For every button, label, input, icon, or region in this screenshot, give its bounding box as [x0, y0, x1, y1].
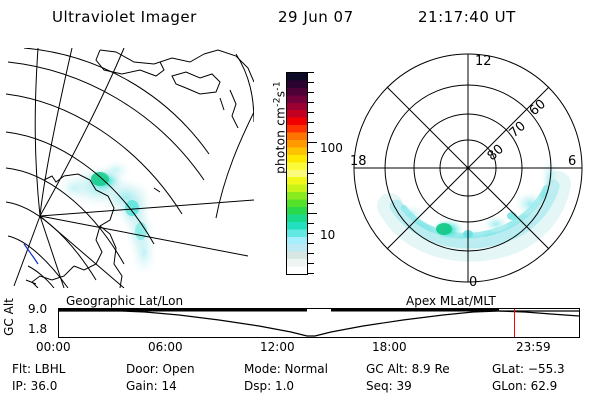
- mlt-label-lat-80: 80: [485, 142, 507, 164]
- colorbar-unit-exp2: -1: [273, 81, 283, 91]
- status-glat: GLat: −55.3: [492, 362, 565, 376]
- colorbar-tick: [308, 253, 314, 254]
- observation-time: 21:17:40 UT: [418, 8, 516, 26]
- colorbar-tick: [308, 243, 314, 244]
- colorbar-tick-label-10: 10: [320, 229, 335, 241]
- colorbar-tick: [308, 183, 314, 184]
- colorbar-tick: [308, 82, 314, 83]
- orbit-y-axis-label: GC Alt: [2, 295, 16, 339]
- status-dsp: Dsp: 1.0: [244, 379, 294, 393]
- orbit-plot-box[interactable]: [58, 308, 580, 338]
- orbit-y-tick-low: 1.8: [28, 322, 47, 336]
- colorbar-tick: [308, 112, 314, 113]
- colorbar-tick: [308, 203, 314, 204]
- colorbar-tick: [308, 233, 314, 234]
- mlt-label-lat-70: 70: [507, 119, 529, 141]
- status-mode: Mode: Normal: [244, 362, 328, 376]
- colorbar-tick: [308, 162, 314, 163]
- colorbar-panel: photon cm-2s-1 100 10: [258, 60, 344, 290]
- mlt-plot-svg: 12 6 0 18 60 70 80: [344, 48, 596, 293]
- status-gain: Gain: 14: [126, 379, 177, 393]
- observation-date: 29 Jun 07: [278, 8, 354, 26]
- mlt-label-lat-60: 60: [527, 97, 549, 119]
- status-filter: Flt: LBHL: [12, 362, 65, 376]
- orbit-x-tick-1: 06:00: [148, 340, 183, 354]
- colorbar-tick: [308, 142, 317, 143]
- status-glon: GLon: 62.9: [492, 379, 557, 393]
- colorbar-tick-label-100: 100: [320, 142, 343, 154]
- orbit-altitude-curve: [59, 309, 579, 337]
- current-time-marker: [514, 309, 515, 337]
- status-seq: Seq: 39: [366, 379, 412, 393]
- header-bar: Ultraviolet Imager 29 Jun 07 21:17:40 UT: [0, 8, 600, 32]
- status-ip: IP: 36.0: [12, 379, 57, 393]
- orbit-x-tick-0: 00:00: [36, 340, 71, 354]
- colorbar-tick: [308, 72, 314, 73]
- aurora-emission-geographic: [56, 160, 157, 277]
- colorbar-gradient[interactable]: [286, 72, 308, 275]
- orbit-altitude-strip[interactable]: Geographic Lat/Lon Apex MLat/MLT GC Alt …: [0, 296, 600, 354]
- colorbar-tick: [308, 102, 314, 103]
- geographic-image-panel[interactable]: [4, 48, 254, 288]
- colorbar-tick: [308, 92, 314, 93]
- orbit-y-tick-high: 9.0: [28, 302, 47, 316]
- colorbar-tick: [308, 132, 314, 133]
- status-gc-alt: GC Alt: 8.9 Re: [366, 362, 450, 376]
- mlt-label-12: 12: [475, 54, 492, 69]
- mlt-label-18: 18: [350, 154, 367, 169]
- orbit-x-tick-3: 18:00: [372, 340, 407, 354]
- status-door: Door: Open: [126, 362, 195, 376]
- colorbar-tick: [308, 122, 314, 123]
- colorbar-tick: [308, 223, 314, 224]
- orbit-x-tick-2: 12:00: [260, 340, 295, 354]
- mlt-label-6: 6: [568, 154, 576, 169]
- colorbar-tick: [308, 263, 314, 264]
- colorbar-unit-exp1: -2: [273, 97, 283, 107]
- page-title: Ultraviolet Imager: [52, 8, 197, 26]
- apex-mlt-panel[interactable]: 12 6 0 18 60 70 80: [344, 48, 596, 293]
- mlt-spokes: [354, 54, 582, 282]
- colorbar-tick: [308, 273, 314, 274]
- colorbar-tick: [308, 213, 317, 214]
- mlt-label-0: 0: [469, 275, 477, 290]
- colorbar-tick: [308, 173, 314, 174]
- orbit-x-tick-4: 23:59: [516, 340, 551, 354]
- colorbar-gradient-fill: [287, 73, 307, 274]
- geographic-plot-caption: Geographic Lat/Lon: [66, 294, 183, 308]
- status-bar: Flt: LBHL IP: 36.0 Door: Open Gain: 14 M…: [0, 362, 600, 398]
- colorbar-tick: [308, 152, 314, 153]
- colorbar-tick: [308, 193, 314, 194]
- geographic-plot-svg: [4, 48, 254, 288]
- mlt-plot-caption: Apex MLat/MLT: [406, 294, 496, 308]
